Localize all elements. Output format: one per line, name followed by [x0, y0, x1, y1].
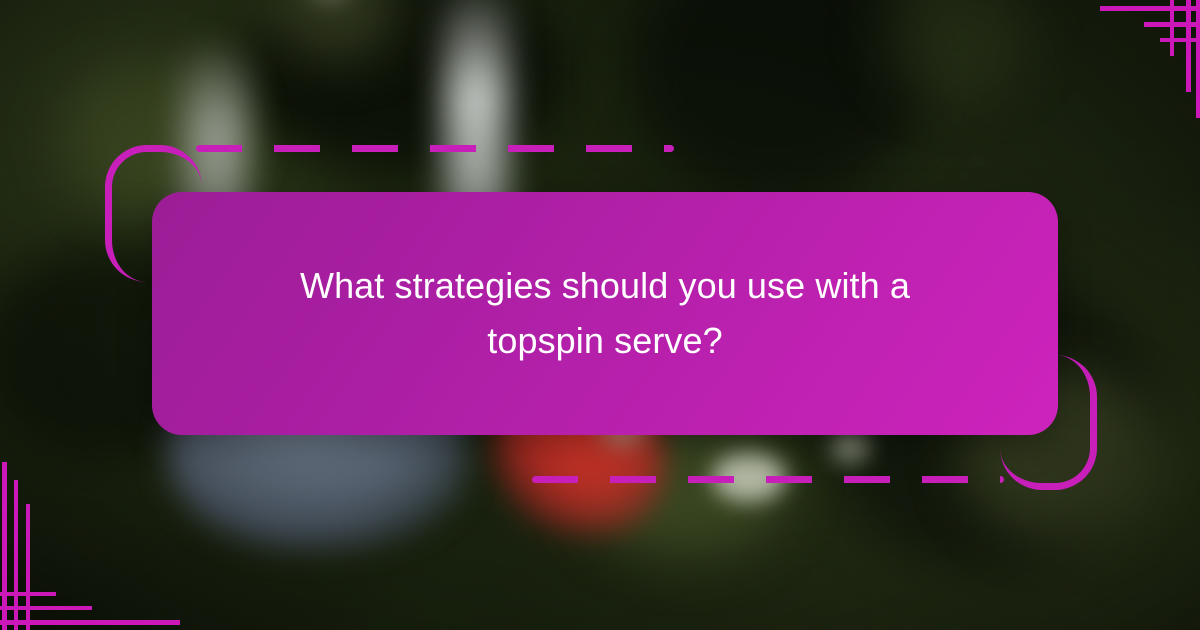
corner-rule-horizontal: [0, 592, 56, 596]
question-card: What strategies should you use with a to…: [152, 192, 1058, 435]
corner-rule-vertical: [1170, 0, 1174, 56]
corner-rule-vertical: [1186, 0, 1191, 92]
bracket-dashes-bottom: [532, 476, 1004, 483]
corner-rule-horizontal: [1100, 6, 1200, 11]
corner-rule-vertical: [26, 504, 30, 630]
corner-rule-vertical: [2, 462, 7, 630]
corner-rule-horizontal: [0, 606, 92, 610]
bracket-dashes-top: [196, 145, 674, 152]
question-text: What strategies should you use with a to…: [275, 259, 935, 368]
social-card-canvas: What strategies should you use with a to…: [0, 0, 1200, 630]
corner-rule-horizontal: [1160, 38, 1200, 42]
corner-rule-vertical: [1196, 0, 1200, 118]
